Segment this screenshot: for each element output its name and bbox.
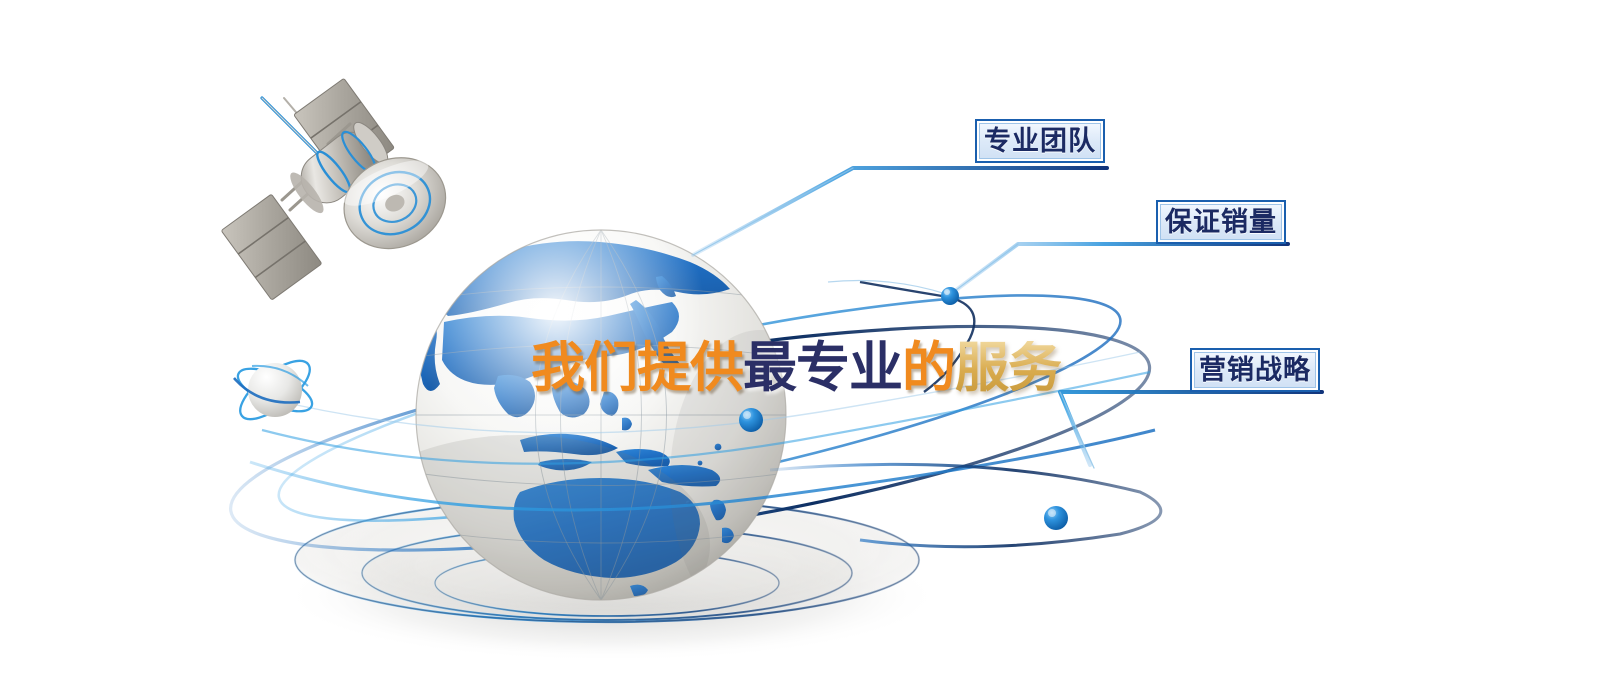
callout-label-professional-team: 专业团队 xyxy=(984,128,1096,155)
headline-segment-4: 服务 xyxy=(955,341,1061,395)
callout-guaranteed-sales[interactable]: 保证销量 xyxy=(1156,200,1286,244)
callout-label-marketing-strategy: 营销战略 xyxy=(1199,357,1311,384)
connector-guaranteed-sales xyxy=(952,244,1288,293)
orbit-node-lower xyxy=(1044,506,1068,530)
connector-marketing-strategy xyxy=(1060,392,1322,465)
orbit-node-upper xyxy=(941,287,959,305)
callout-label-guaranteed-sales: 保证销量 xyxy=(1165,209,1277,236)
callout-marketing-strategy[interactable]: 营销战略 xyxy=(1190,348,1320,392)
page-headline: 我们提供最专业的服务 xyxy=(531,341,1061,395)
callout-professional-team[interactable]: 专业团队 xyxy=(975,119,1105,163)
headline-segment-2: 最专业 xyxy=(743,341,902,395)
illustration-stage: 我们提供最专业的服务 专业团队 保证销量 营销战略 xyxy=(0,0,1600,697)
connector-professional-team xyxy=(693,168,1107,255)
satellite xyxy=(221,78,460,300)
headline-segment-1: 我们提供 xyxy=(531,341,743,395)
headline-segment-3: 的 xyxy=(902,341,955,395)
solar-panel-lower xyxy=(221,194,322,300)
orbit-node-center xyxy=(739,408,763,432)
small-sphere xyxy=(231,351,318,430)
